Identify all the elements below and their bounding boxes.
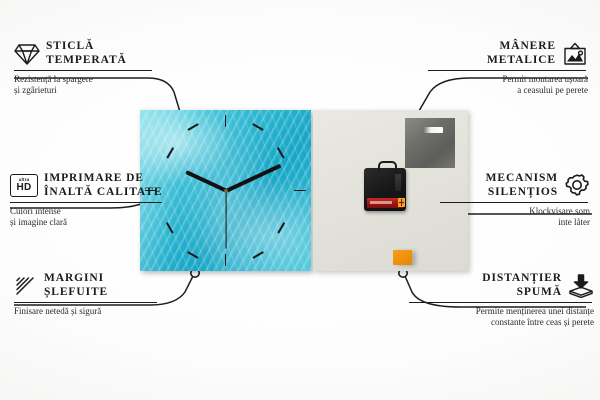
feature-rule bbox=[428, 70, 586, 71]
feature-rule bbox=[14, 302, 157, 303]
feature-title-line2: TEMPERATĂ bbox=[46, 54, 127, 66]
feature-subtitle-line2: și zgârieturi bbox=[14, 85, 57, 95]
feature-imprimare-inalta-calitate: ultra HD IMPRIMARE DE ÎNALTĂ CALITATE Cu… bbox=[10, 172, 170, 228]
feature-header: MECANISM SILENȚIOS bbox=[440, 172, 590, 199]
feature-subtitle-line2: și imagine clară bbox=[10, 217, 67, 227]
feature-title-line2: ÎNALTĂ CALITATE bbox=[44, 186, 162, 198]
feature-title: DISTANȚIER SPUMĂ bbox=[482, 272, 562, 299]
battery bbox=[367, 198, 403, 208]
feature-title-line2: ȘLEFUITE bbox=[44, 286, 108, 298]
feature-subtitle-line2: inte låter bbox=[558, 217, 590, 227]
feature-subtitle: Culori intense și imagine clară bbox=[10, 206, 170, 228]
ultra-hd-icon-big-text: HD bbox=[16, 183, 31, 193]
feature-sticla-temperata: STICLĂ TEMPERATĂ Rezistență la spargere … bbox=[14, 40, 154, 96]
clock-center-hub bbox=[224, 189, 228, 193]
feature-title: MÂNERE METALICE bbox=[487, 40, 556, 67]
feature-subtitle-line1: Permit montarea ușoară bbox=[503, 74, 588, 84]
feature-subtitle-line1: Rezistență la spargere bbox=[14, 74, 93, 84]
infographic-canvas: STICLĂ TEMPERATĂ Rezistență la spargere … bbox=[0, 0, 600, 400]
feature-title-line2: SILENȚIOS bbox=[488, 186, 558, 198]
picture-hanger-icon bbox=[562, 42, 588, 66]
feature-title-line1: DISTANȚIER bbox=[482, 272, 562, 284]
feature-header: DISTANȚIER SPUMĂ bbox=[409, 272, 594, 299]
quartz-movement bbox=[364, 168, 406, 211]
movement-shaft-slot bbox=[395, 174, 401, 191]
feature-header: MARGINI ȘLEFUITE bbox=[14, 272, 159, 299]
feature-title-line1: STICLĂ bbox=[46, 40, 94, 52]
feature-rule bbox=[10, 202, 162, 203]
gear-icon bbox=[564, 173, 590, 198]
feature-rule bbox=[14, 70, 152, 71]
feature-title-line1: IMPRIMARE DE bbox=[44, 172, 144, 184]
battery-label bbox=[370, 201, 392, 204]
feature-subtitle-line1: Culori intense bbox=[10, 206, 61, 216]
feature-subtitle-line2: constante între ceas și perete bbox=[491, 317, 594, 327]
feature-title: STICLĂ TEMPERATĂ bbox=[46, 40, 127, 67]
feature-rule bbox=[440, 202, 588, 203]
feature-subtitle-line1: Klockvisare som bbox=[529, 206, 590, 216]
feature-subtitle: Permit montarea ușoară a ceasului pe per… bbox=[428, 74, 588, 96]
feature-mecanism-silentios: MECANISM SILENȚIOS Klockvisare som inte … bbox=[440, 172, 590, 228]
feature-title: IMPRIMARE DE ÎNALTĂ CALITATE bbox=[44, 172, 162, 199]
feature-title: MARGINI ȘLEFUITE bbox=[44, 272, 108, 299]
foam-spacer bbox=[393, 250, 412, 265]
feature-subtitle-line1: Finisare netedă și sigură bbox=[14, 306, 101, 316]
movement-hanging-loop bbox=[378, 161, 397, 172]
feature-title-line2: METALICE bbox=[487, 54, 556, 66]
feature-header: MÂNERE METALICE bbox=[428, 40, 588, 67]
feature-title: MECANISM SILENȚIOS bbox=[486, 172, 558, 199]
feature-subtitle: Rezistență la spargere și zgârieturi bbox=[14, 74, 154, 96]
feature-title-line2: SPUMĂ bbox=[517, 286, 562, 298]
feature-subtitle-line2: a ceasului pe perete bbox=[517, 85, 588, 95]
diamond-icon bbox=[14, 42, 40, 66]
clock-hand-second bbox=[225, 191, 226, 249]
feature-title-line1: MARGINI bbox=[44, 272, 104, 284]
feature-title-line1: MECANISM bbox=[486, 172, 558, 184]
foam-spacer-icon bbox=[568, 273, 594, 298]
battery-plus-terminal bbox=[398, 198, 405, 207]
hanger-slot bbox=[423, 127, 443, 133]
ultra-hd-icon: ultra HD bbox=[10, 174, 38, 197]
feature-subtitle: Permite menținerea unei distanțe constan… bbox=[409, 306, 594, 328]
feature-distantier-spuma: DISTANȚIER SPUMĂ Permite menținerea unei… bbox=[409, 272, 594, 328]
feature-header: STICLĂ TEMPERATĂ bbox=[14, 40, 154, 67]
polished-edges-icon bbox=[14, 275, 38, 297]
feature-header: ultra HD IMPRIMARE DE ÎNALTĂ CALITATE bbox=[10, 172, 170, 199]
feature-title-line1: MÂNERE bbox=[499, 40, 556, 52]
feature-subtitle: Klockvisare som inte låter bbox=[440, 206, 590, 228]
metal-hanger-plate bbox=[405, 118, 455, 168]
feature-margini-slefuite: MARGINI ȘLEFUITE Finisare netedă și sigu… bbox=[14, 272, 159, 317]
feature-subtitle: Finisare netedă și sigură bbox=[14, 306, 159, 317]
feature-rule bbox=[409, 302, 592, 303]
feature-subtitle-line1: Permite menținerea unei distanțe bbox=[476, 306, 594, 316]
feature-manere-metalice: MÂNERE METALICE Permit montarea ușoară a… bbox=[428, 40, 588, 96]
